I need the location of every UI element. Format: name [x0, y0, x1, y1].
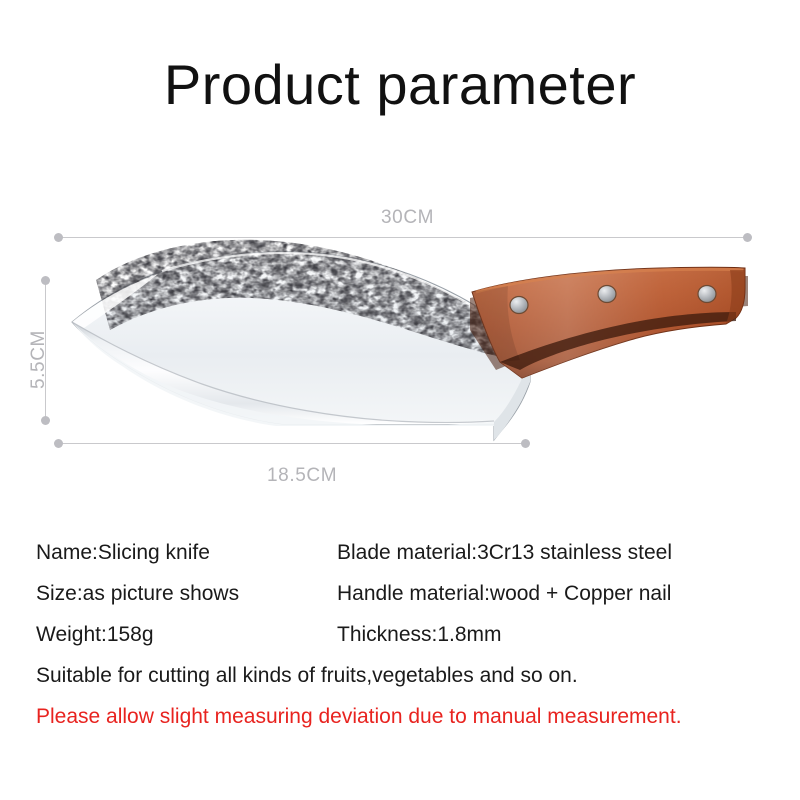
spec-row: Weight:158g Thickness:1.8mm: [0, 620, 800, 661]
blade-length-label: 18.5CM: [267, 465, 337, 487]
overall-length-label: 30CM: [381, 207, 434, 229]
product-diagram: 30CM 5.5CM 18.5CM: [0, 180, 800, 510]
overall-length-guide-dot-left: [54, 233, 63, 242]
spec-size: Size:as picture shows: [36, 579, 239, 609]
spec-blade-material: Blade material:3Cr13 stainless steel: [337, 538, 672, 568]
knife-illustration: [0, 180, 800, 510]
specification-block: Name:Slicing knife Blade material:3Cr13 …: [0, 538, 800, 732]
overall-length-guide-dot-right: [743, 233, 752, 242]
page-title: Product parameter: [0, 54, 800, 116]
spec-weight: Weight:158g: [36, 620, 154, 650]
blade-length-guide-dot-right: [521, 439, 530, 448]
measurement-disclaimer: Please allow slight measuring deviation …: [36, 702, 800, 732]
blade-length-guide-line: [58, 443, 525, 444]
blade-height-label: 5.5CM: [28, 330, 50, 389]
blade-length-guide-dot-left: [54, 439, 63, 448]
spec-usage: Suitable for cutting all kinds of fruits…: [36, 661, 800, 691]
spec-handle-material: Handle material:wood + Copper nail: [337, 579, 671, 609]
knife-blade: [60, 220, 540, 440]
spec-row: Name:Slicing knife Blade material:3Cr13 …: [0, 538, 800, 579]
blade-height-guide-dot-bottom: [41, 416, 50, 425]
knife-handle: [470, 267, 748, 378]
blade-height-guide-dot-top: [41, 276, 50, 285]
overall-length-guide-line: [58, 237, 748, 238]
spec-name: Name:Slicing knife: [36, 538, 210, 568]
spec-row: Size:as picture shows Handle material:wo…: [0, 579, 800, 620]
spec-thickness: Thickness:1.8mm: [337, 620, 502, 650]
